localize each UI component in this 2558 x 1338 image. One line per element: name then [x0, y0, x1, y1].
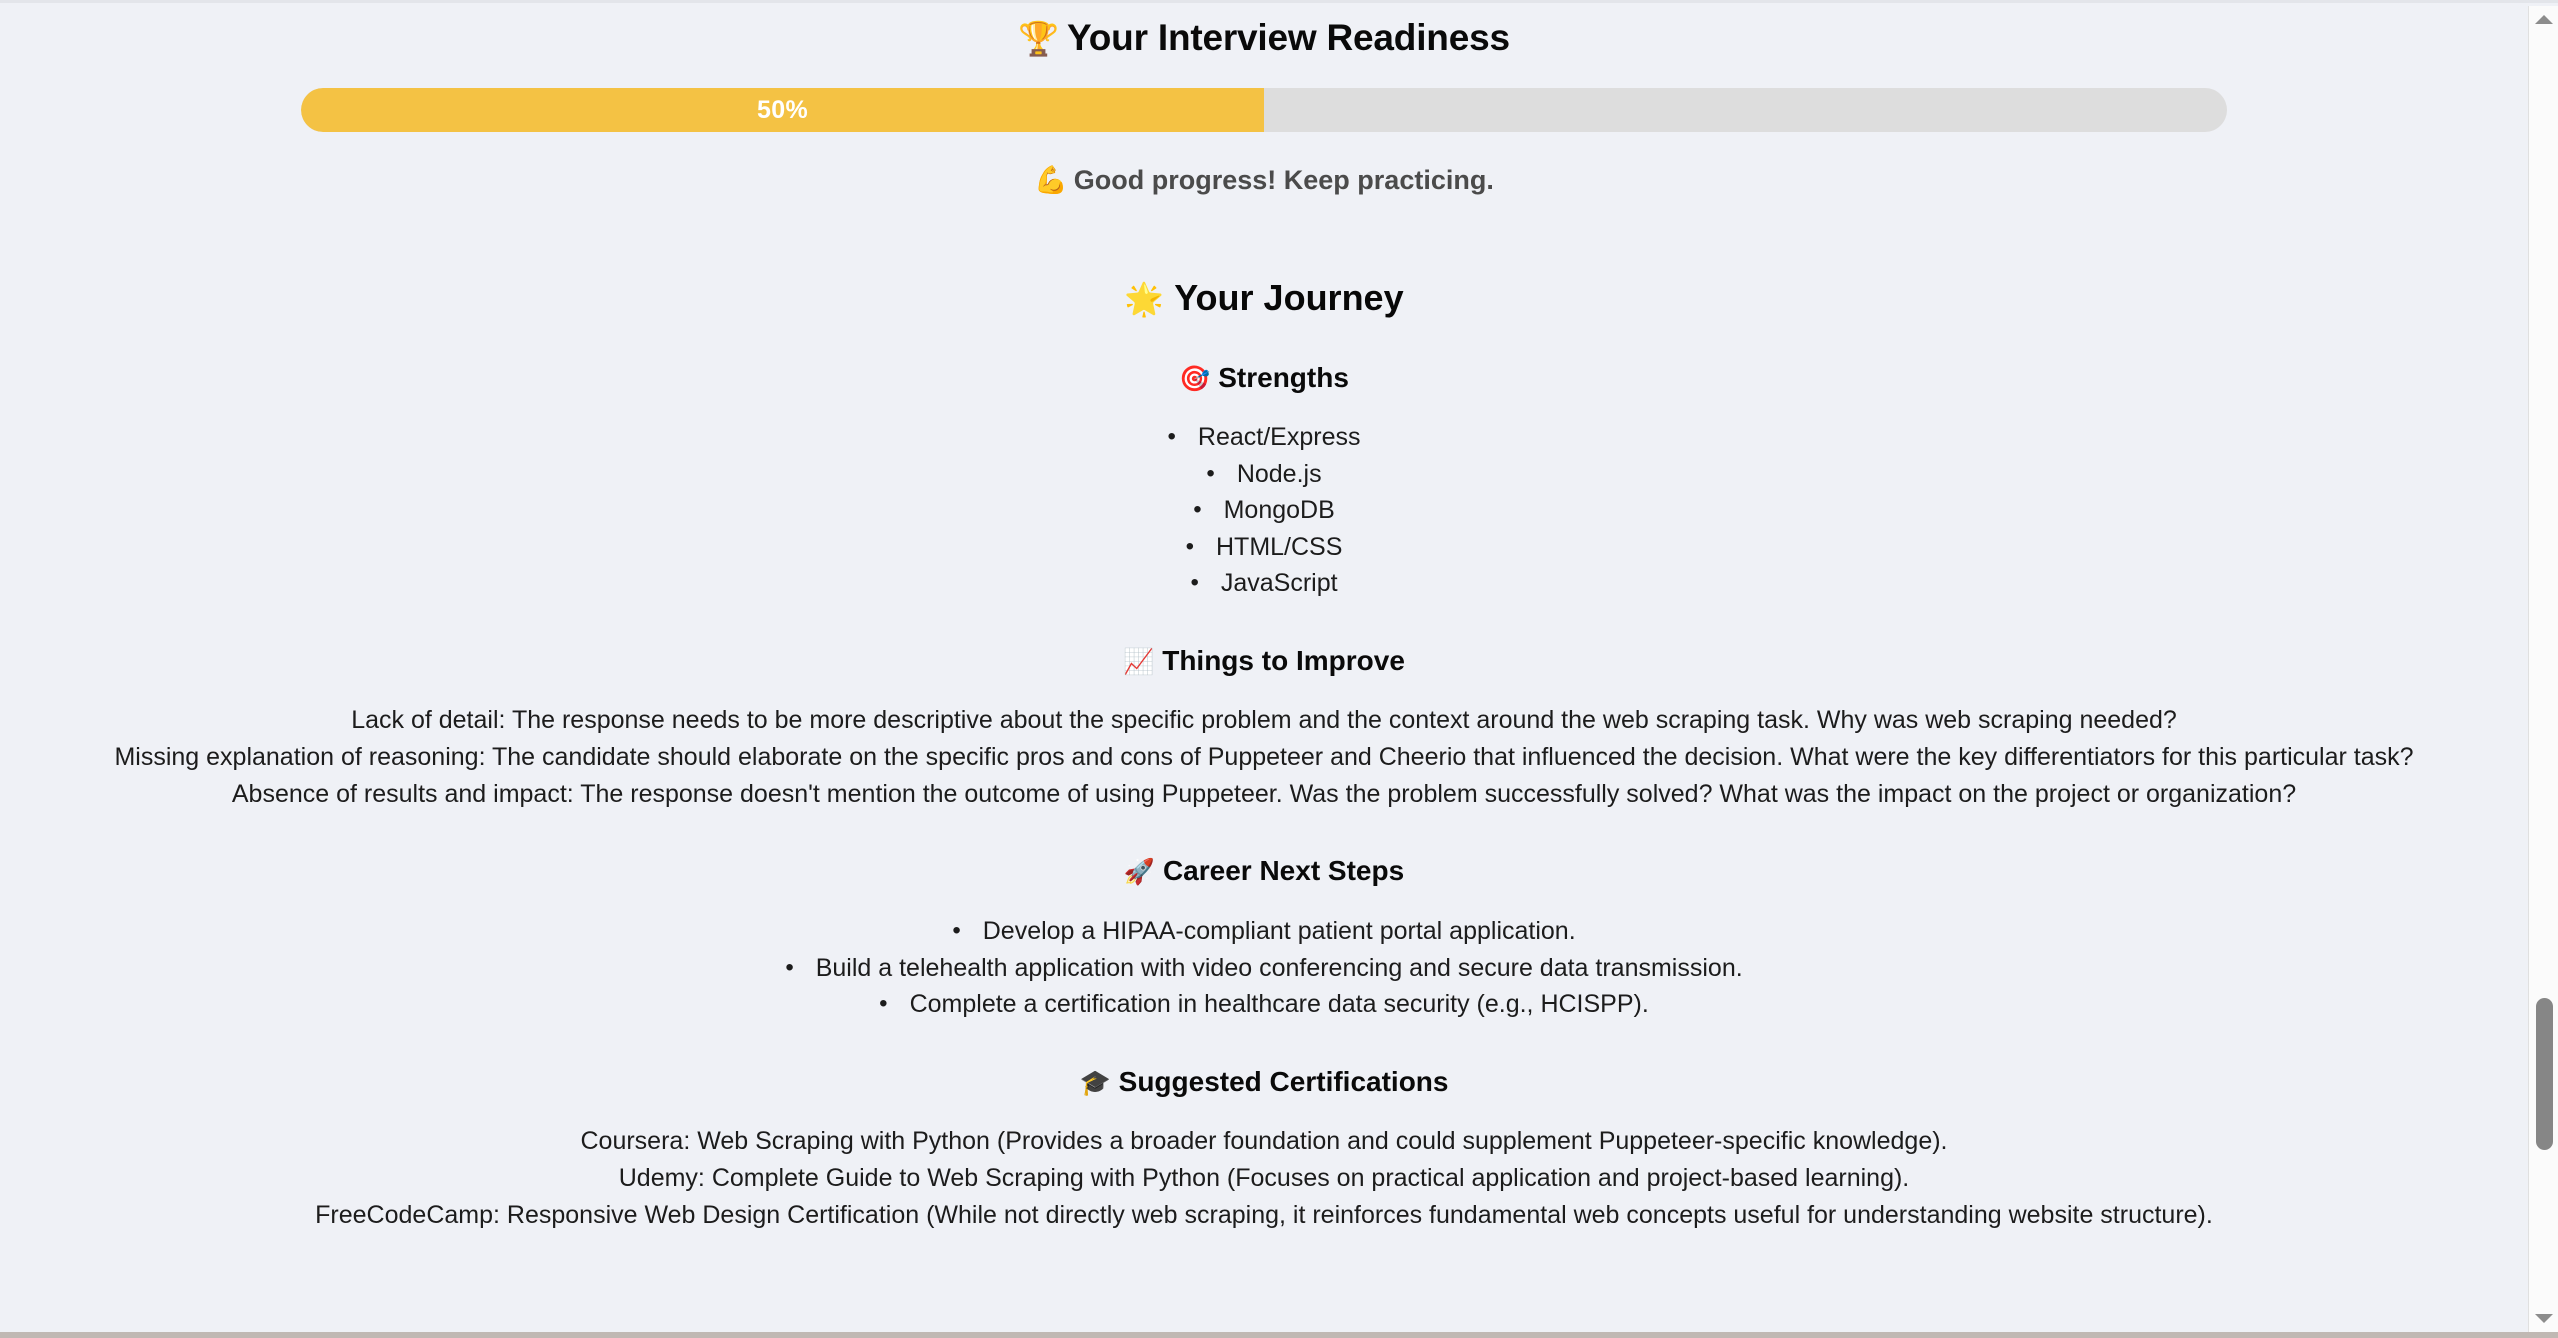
list-item: •Develop a HIPAA-compliant patient porta…	[20, 913, 2508, 950]
readiness-progress-bar: 50%	[301, 88, 2227, 132]
readiness-progress-label: 50%	[757, 96, 808, 125]
list-item-text: React/Express	[1198, 423, 1361, 451]
strengths-heading: 🎯Strengths	[20, 320, 2508, 395]
chart-increasing-icon: 📈	[1123, 648, 1154, 676]
career-heading-text: Career Next Steps	[1163, 855, 1404, 886]
bullet-icon: •	[1190, 567, 1198, 598]
bullet-icon: •	[1206, 458, 1214, 489]
browser-viewport: 🏆Your Interview Readiness 50% 💪Good prog…	[0, 0, 2558, 1338]
list-item-text: MongoDB	[1224, 496, 1335, 524]
bullet-icon: •	[785, 952, 793, 983]
list-item-text: HTML/CSS	[1216, 533, 1342, 561]
list-item-text: JavaScript	[1221, 569, 1338, 597]
bullet-icon: •	[1193, 494, 1201, 525]
paragraph-item: Missing explanation of reasoning: The ca…	[20, 739, 2508, 776]
career-list: •Develop a HIPAA-compliant patient porta…	[20, 913, 2508, 1023]
list-item: •Complete a certification in healthcare …	[20, 986, 2508, 1023]
bullet-icon: •	[1168, 421, 1176, 452]
list-item: •JavaScript	[20, 565, 2508, 602]
bullet-icon: •	[879, 988, 887, 1019]
list-item: •HTML/CSS	[20, 529, 2508, 566]
graduation-cap-icon: 🎓	[1080, 1069, 1111, 1097]
improvements-list: Lack of detail: The response needs to be…	[20, 702, 2508, 813]
journey-title-text: Your Journey	[1174, 277, 1403, 318]
rocket-icon: 🚀	[1124, 858, 1155, 886]
list-item-text: Node.js	[1237, 460, 1322, 488]
scrollbar-thumb[interactable]	[2536, 998, 2553, 1150]
paragraph-item: FreeCodeCamp: Responsive Web Design Cert…	[20, 1197, 2508, 1234]
flexed-biceps-icon: 💪	[1034, 165, 1068, 195]
readiness-progress-message: 💪Good progress! Keep practicing.	[20, 164, 2508, 198]
scroll-up-arrow-icon[interactable]	[2529, 8, 2558, 30]
journey-title: 🌟Your Journey	[20, 198, 2508, 320]
paragraph-item: Absence of results and impact: The respo…	[20, 776, 2508, 813]
improvements-heading: 📈Things to Improve	[20, 602, 2508, 678]
bullet-icon: •	[1186, 531, 1194, 562]
strengths-list: •React/Express•Node.js•MongoDB•HTML/CSS•…	[20, 419, 2508, 602]
list-item-text: Complete a certification in healthcare d…	[910, 990, 1649, 1018]
readiness-progress-fill: 50%	[301, 88, 1264, 132]
certifications-heading: 🎓Suggested Certifications	[20, 1023, 2508, 1099]
paragraph-item: Lack of detail: The response needs to be…	[20, 702, 2508, 739]
interview-readiness-page: 🏆Your Interview Readiness 50% 💪Good prog…	[0, 3, 2528, 1329]
page-title-text: Your Interview Readiness	[1067, 17, 1510, 58]
list-item-text: Develop a HIPAA-compliant patient portal…	[983, 917, 1576, 945]
target-icon: 🎯	[1179, 365, 1210, 393]
paragraph-item: Coursera: Web Scraping with Python (Prov…	[20, 1123, 2508, 1160]
scroll-down-arrow-icon[interactable]	[2529, 1307, 2558, 1329]
strengths-heading-text: Strengths	[1218, 362, 1349, 393]
list-item: •MongoDB	[20, 492, 2508, 529]
vertical-scrollbar[interactable]	[2528, 6, 2558, 1335]
paragraph-item: Udemy: Complete Guide to Web Scraping wi…	[20, 1160, 2508, 1197]
improvements-heading-text: Things to Improve	[1162, 645, 1405, 676]
readiness-progress-message-text: Good progress! Keep practicing.	[1074, 165, 1494, 195]
list-item-text: Build a telehealth application with vide…	[816, 954, 1743, 982]
career-heading: 🚀Career Next Steps	[20, 813, 2508, 888]
list-item: •React/Express	[20, 419, 2508, 456]
list-item: •Build a telehealth application with vid…	[20, 950, 2508, 987]
certifications-list: Coursera: Web Scraping with Python (Prov…	[20, 1123, 2508, 1234]
trophy-icon: 🏆	[1018, 20, 1059, 57]
bullet-icon: •	[952, 915, 960, 946]
glowing-star-icon: 🌟	[1124, 281, 1164, 317]
list-item: •Node.js	[20, 456, 2508, 493]
page-title: 🏆Your Interview Readiness	[20, 3, 2508, 61]
certifications-heading-text: Suggested Certifications	[1119, 1066, 1449, 1097]
